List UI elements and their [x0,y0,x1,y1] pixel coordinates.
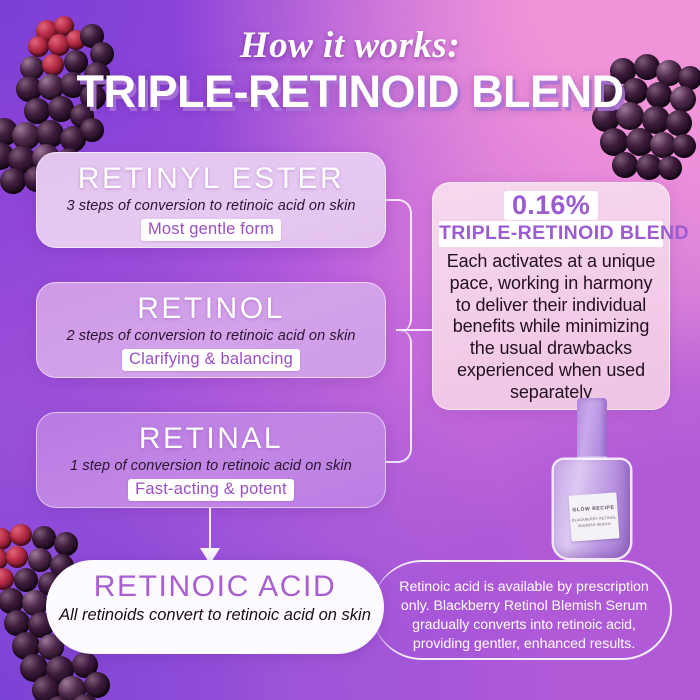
connector-to-panel [396,329,436,331]
step-card-subtitle: 3 steps of conversion to retinoic acid o… [47,198,375,214]
infographic-canvas: How it works: TRIPLE-RETINOID BLEND RETI… [0,0,700,700]
step-card-title: RETINAL [47,422,375,456]
blend-label-band: TRIPLE-RETINOID BLEND [439,221,663,247]
bottom-note-text: Retinoic acid is available by prescripti… [388,578,660,654]
bottle-product-name: BLACKBERRY RETINOL BLEMISH SERUM [570,515,619,529]
result-pill-retinoic-acid: RETINOIC ACID All retinoids convert to r… [46,560,384,654]
step-card-highlight: Fast-acting & potent [128,479,294,501]
connector-bracket-bottom [386,329,412,463]
product-bottle-image: GLOW RECIPE BLACKBERRY RETINOL BLEMISH S… [552,398,630,568]
result-subtitle: All retinoids convert to retinoic acid o… [46,606,384,625]
blend-description: Each activates at a unique pace, working… [439,251,663,403]
blend-percentage: 0.16% [504,191,598,220]
step-card-subtitle: 1 step of conversion to retinoic acid on… [47,458,375,474]
step-card-highlight: Clarifying & balancing [122,349,300,371]
down-arrow-shaft [209,508,211,552]
step-card-retinyl-ester: RETINYL ESTER 3 steps of conversion to r… [36,152,386,248]
result-title: RETINOIC ACID [46,570,384,603]
blend-summary-panel: 0.16% TRIPLE-RETINOID BLEND Each activat… [432,182,670,410]
bottle-label: GLOW RECIPE BLACKBERRY RETINOL BLEMISH S… [568,492,619,541]
step-card-retinol: RETINOL 2 steps of conversion to retinoi… [36,282,386,378]
step-card-highlight: Most gentle form [141,219,281,241]
step-card-subtitle: 2 steps of conversion to retinoic acid o… [47,328,375,344]
eyebrow-heading: How it works: [0,24,700,67]
page-title: TRIPLE-RETINOID BLEND [0,66,700,118]
connector-bracket-top [386,199,412,333]
step-card-title: RETINOL [47,292,375,326]
bottle-brand-name: GLOW RECIPE [572,505,614,514]
step-card-retinal: RETINAL 1 step of conversion to retinoic… [36,412,386,508]
step-card-title: RETINYL ESTER [47,162,375,196]
